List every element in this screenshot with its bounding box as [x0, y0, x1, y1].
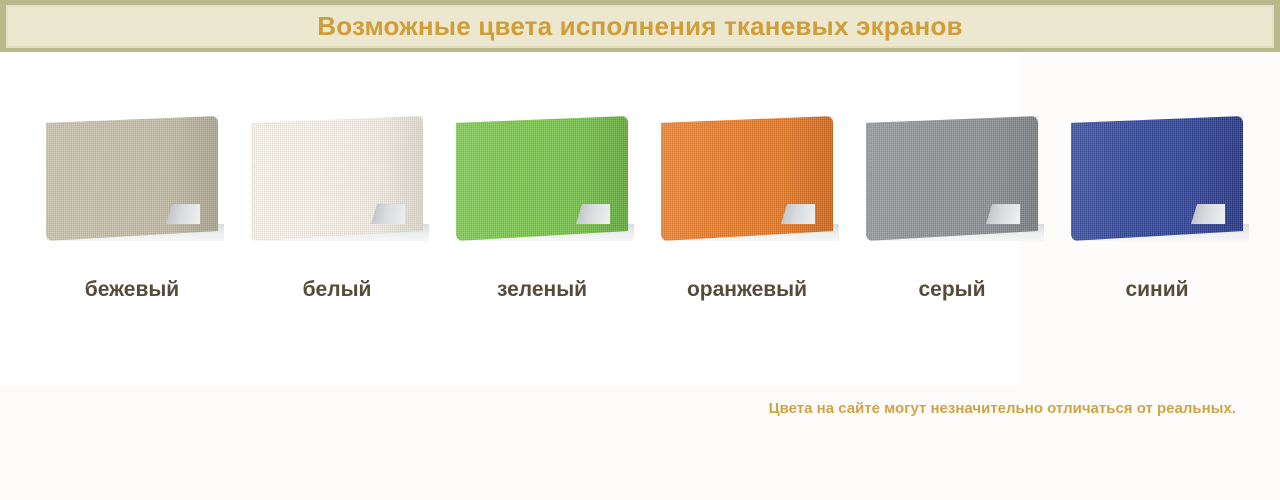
fabric-screen-illustration — [448, 100, 636, 255]
color-swatch-gray[interactable]: серый — [852, 100, 1052, 330]
color-swatch-orange[interactable]: оранжевый — [647, 100, 847, 330]
fabric-screen-illustration — [243, 100, 431, 255]
header-banner: Возможные цвета исполнения тканевых экра… — [0, 0, 1280, 52]
color-swatch-label: серый — [852, 278, 1052, 302]
header-inner-frame: Возможные цвета исполнения тканевых экра… — [6, 5, 1274, 48]
fabric-screen-illustration — [653, 100, 841, 255]
color-options-page: Возможные цвета исполнения тканевых экра… — [0, 0, 1280, 500]
color-swatch-white[interactable]: белый — [237, 100, 437, 330]
color-swatch-blue[interactable]: синий — [1057, 100, 1257, 330]
color-swatch-row: бежевый белый зеленый — [0, 100, 1280, 330]
fabric-screen-illustration — [858, 100, 1046, 255]
fabric-screen-illustration — [1063, 100, 1251, 255]
color-swatch-label: оранжевый — [647, 278, 847, 302]
color-swatch-label: зеленый — [442, 278, 642, 302]
color-swatch-label: бежевый — [32, 278, 232, 302]
color-swatch-green[interactable]: зеленый — [442, 100, 642, 330]
fabric-screen-illustration — [38, 100, 226, 255]
color-swatch-label: синий — [1057, 278, 1257, 302]
color-swatch-label: белый — [237, 278, 437, 302]
page-title: Возможные цвета исполнения тканевых экра… — [317, 13, 962, 40]
color-disclaimer-note: Цвета на сайте могут незначительно отлич… — [769, 400, 1236, 417]
color-swatch-beige[interactable]: бежевый — [32, 100, 232, 330]
